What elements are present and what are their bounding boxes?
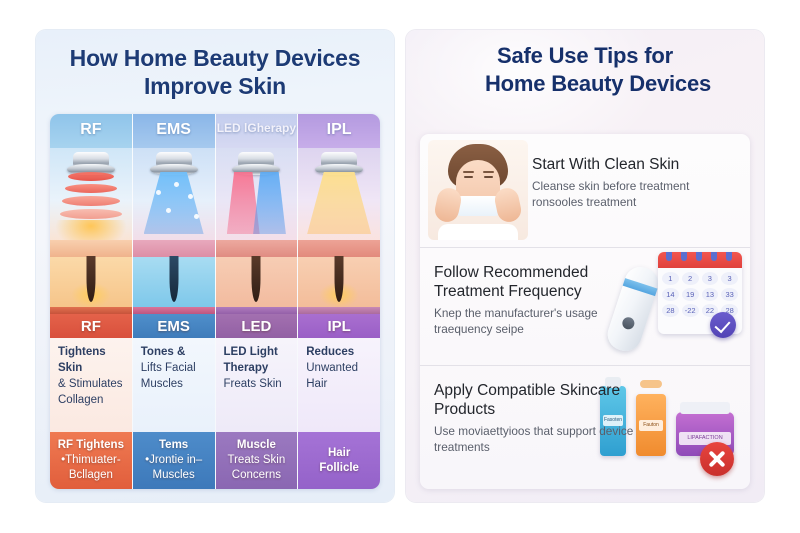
calendar-day: 1 xyxy=(662,272,679,285)
tip-1-text: Start With Clean Skin Cleanse skin befor… xyxy=(532,156,732,211)
column-header-label: RF xyxy=(50,121,132,139)
hand-right xyxy=(493,186,524,224)
rf-illustration xyxy=(50,148,132,314)
desc-rest: Unwanted Hair xyxy=(306,362,358,390)
desc-rest: Freats Skin xyxy=(224,378,282,390)
column-description-ems: Tones & Lifts Facial Muscles xyxy=(133,338,215,432)
ipl-skin-cross-section xyxy=(298,240,380,314)
tips-list: Start With Clean Skin Cleanse skin befor… xyxy=(420,134,750,489)
led-skin-cross-section xyxy=(216,240,298,314)
footer-line-1: RF Tightens xyxy=(58,438,124,453)
column-description-ipl: Reduces Unwanted Hair xyxy=(298,338,380,432)
calendar-day: 13 xyxy=(702,288,719,301)
tip-2-heading: Follow Recommended Treatment Frequency xyxy=(434,264,649,302)
column-description-led: LED Light Therapy Freats Skin xyxy=(216,338,298,432)
calendar-day: 33 xyxy=(721,288,738,301)
column-footer-ems: Tems •Jrontie in– Muscles xyxy=(133,432,215,489)
footer-line-2: Follicle xyxy=(319,461,359,476)
calendar-day: 28 xyxy=(662,304,679,317)
desc-bold: LED Light Therapy xyxy=(224,345,291,377)
column-label-ipl: IPL xyxy=(298,314,380,338)
column-label-rf: RF xyxy=(50,314,132,338)
shoulders-shape xyxy=(438,224,518,240)
calendar-day: 14 xyxy=(662,288,679,301)
eye-right xyxy=(484,176,493,178)
ems-skin-cross-section xyxy=(133,240,215,314)
column-header-label: EMS xyxy=(133,121,215,139)
footer-line-3: Muscles xyxy=(153,468,195,483)
calendar-day: 2 xyxy=(682,272,699,285)
footer-line-3: Concerns xyxy=(232,468,281,483)
column-header-label: IPL xyxy=(298,121,380,139)
column-footer-ipl: Hair Follicle xyxy=(298,432,380,489)
face-washing-illustration xyxy=(428,140,528,240)
footer-line-2: Treats Skin xyxy=(228,453,286,468)
eyebrow-right xyxy=(483,171,494,173)
right-panel-safe-use-tips: Safe Use Tips for Home Beauty Devices xyxy=(406,30,764,502)
tip-3-text: Apply Compatible Skincare Products Use m… xyxy=(434,382,639,456)
desc-bold: Tones & xyxy=(141,345,208,361)
column-description-rf: Tightens Skin & Stimulates Collagen xyxy=(50,338,132,432)
rf-skin-cross-section xyxy=(50,240,132,314)
footer-line-2: •Thimuater- xyxy=(61,453,121,468)
column-header-rf: RF xyxy=(50,114,132,148)
tip-2-text: Follow Recommended Treatment Frequency K… xyxy=(434,264,649,338)
desc-rest: & Stimulates Collagen xyxy=(58,378,123,406)
pump-bottle-icon: Fauton xyxy=(636,394,666,456)
checkmark-badge-icon xyxy=(710,312,736,338)
ipl-illustration xyxy=(298,148,380,314)
column-header-led: LED lGherapy xyxy=(216,114,298,148)
right-panel-title: Safe Use Tips for Home Beauty Devices xyxy=(406,42,764,97)
footer-line-1: Hair xyxy=(328,446,350,461)
device-column-rf[interactable]: RF xyxy=(50,114,133,489)
eye-left xyxy=(464,176,473,178)
tip-1-body: Cleanse skin before treatment ronsooles … xyxy=(532,179,732,211)
column-header-ems: EMS xyxy=(133,114,215,148)
left-panel-title: How Home Beauty Devices Improve Skin xyxy=(36,44,394,100)
desc-rest: Lifts Facial Muscles xyxy=(141,362,196,390)
footer-line-3: Bcllagen xyxy=(69,468,113,483)
device-column-led[interactable]: LED lGherapy LED xyxy=(216,114,299,489)
desc-bold: Reduces xyxy=(306,345,373,361)
column-label-led: LED xyxy=(216,314,298,338)
tip-3-body: Use moviaettyioos that support device tr… xyxy=(434,424,639,456)
tip-3-heading: Apply Compatible Skincare Products xyxy=(434,382,639,420)
tip-item-treatment-frequency[interactable]: Follow Recommended Treatment Frequency K… xyxy=(420,247,750,365)
infographic-canvas: How Home Beauty Devices Improve Skin RF xyxy=(0,0,800,533)
ems-illustration xyxy=(133,148,215,314)
eyebrow-left xyxy=(463,171,474,173)
calendar-day: 19 xyxy=(682,288,699,301)
calendar-day: 3 xyxy=(721,272,738,285)
column-footer-led: Muscle Treats Skin Concerns xyxy=(216,432,298,489)
right-title-line-1: Safe Use Tips for xyxy=(406,42,764,70)
device-column-ipl[interactable]: IPL IPL xyxy=(298,114,380,489)
device-comparison-matrix: RF xyxy=(50,114,380,489)
footer-line-2: •Jrontie in– xyxy=(145,453,202,468)
calendar-day: -22 xyxy=(682,304,699,317)
footer-line-1: Tems xyxy=(159,438,188,453)
calendar-day-grid: 1 2 3 3 14 19 13 33 28 -22 22 28 xyxy=(662,272,738,317)
column-footer-rf: RF Tightens •Thimuater- Bcllagen xyxy=(50,432,132,489)
footer-line-1: Muscle xyxy=(237,438,276,453)
left-title-line-1: How Home Beauty Devices xyxy=(36,44,394,72)
tip-1-heading: Start With Clean Skin xyxy=(532,156,732,175)
tip-2-body: Knep the manufacturer's usage traequency… xyxy=(434,306,649,338)
device-column-ems[interactable]: EMS xyxy=(133,114,216,489)
desc-bold: Tightens Skin xyxy=(58,345,125,377)
column-header-label: LED lGherapy xyxy=(216,121,298,135)
prohibition-x-icon xyxy=(700,442,734,476)
tip-item-compatible-skincare[interactable]: Apply Compatible Skincare Products Use m… xyxy=(420,365,750,489)
led-illustration xyxy=(216,148,298,314)
left-panel-how-devices-work: How Home Beauty Devices Improve Skin RF xyxy=(36,30,394,502)
product-label: Fauton xyxy=(639,420,663,431)
left-title-line-2: Improve Skin xyxy=(36,72,394,100)
calendar-day: 3 xyxy=(702,272,719,285)
tip-item-clean-skin[interactable]: Start With Clean Skin Cleanse skin befor… xyxy=(420,134,750,247)
column-label-ems: EMS xyxy=(133,314,215,338)
right-title-line-2: Home Beauty Devices xyxy=(406,70,764,98)
column-header-ipl: IPL xyxy=(298,114,380,148)
